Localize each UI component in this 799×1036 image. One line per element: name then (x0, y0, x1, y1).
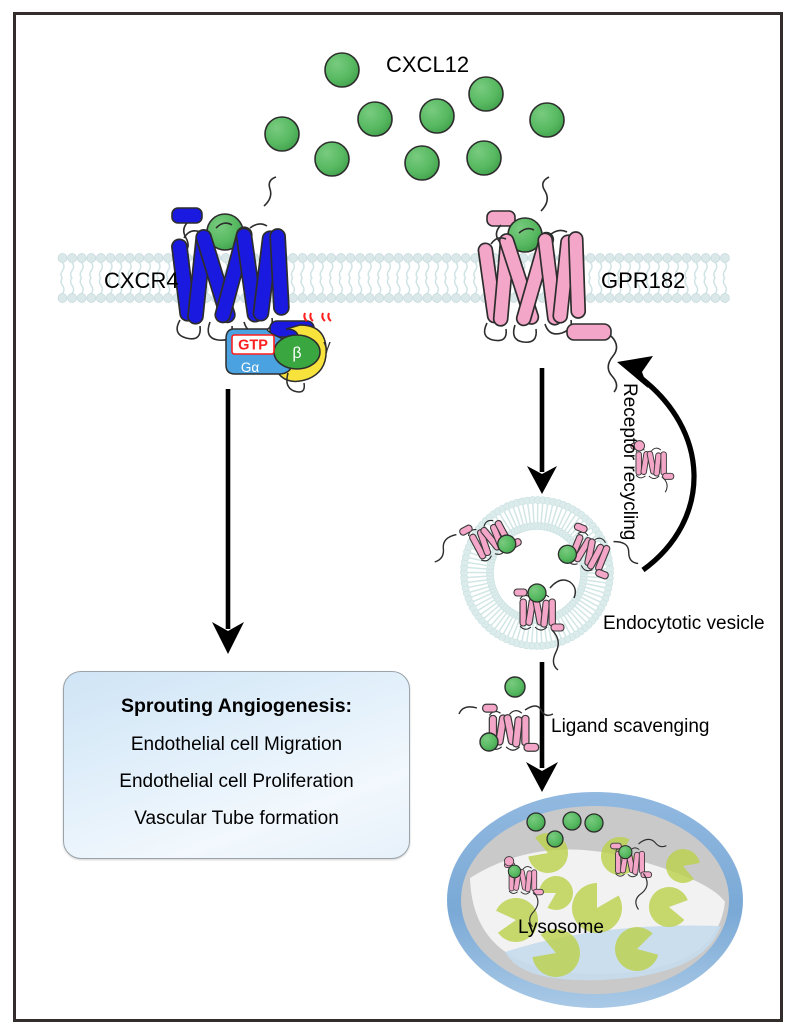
label-endocytotic-vesicle: Endocytotic vesicle (603, 613, 765, 635)
cxcl12-particle (530, 103, 564, 137)
label-cxcl12: CXCL12 (386, 52, 469, 78)
gpr182-receptor (478, 177, 617, 392)
label-receptor-recycling: Receptor recycling (618, 383, 640, 540)
lysosome (447, 792, 743, 1008)
free-ligand-particle (505, 677, 525, 697)
angiogenesis-line-1: Endothelial cell Migration (131, 734, 342, 756)
arrow-gpr182-to-vesicle (527, 368, 557, 494)
gtp-badge: GTP (232, 335, 274, 354)
label-gpr182: GPR182 (601, 268, 685, 294)
gtp-label: GTP (238, 338, 268, 354)
label-cxcr4: CXCR4 (104, 268, 179, 294)
diagram-artwork: GTP Gα β γ (0, 0, 799, 1036)
degraded-ligand-particle (563, 812, 581, 830)
degraded-ligand-particle (527, 813, 545, 831)
figure-root: GTP Gα β γ (0, 0, 799, 1036)
cxcl12-particle (315, 142, 349, 176)
g-alpha-label: Gα (241, 360, 260, 375)
cxcl12-particle (358, 102, 392, 136)
cxcl12-particle (420, 99, 454, 133)
degraded-ligand-particle (547, 831, 563, 847)
label-lysosome: Lysosome (518, 917, 604, 939)
endocytotic-vesicle (427, 496, 644, 670)
angiogenesis-title: Sprouting Angiogenesis: (121, 695, 352, 718)
g-beta-label: β (292, 345, 301, 362)
sprouting-angiogenesis-box: Sprouting Angiogenesis: Endothelial cell… (63, 671, 410, 859)
arrow-cxcr4-to-angiogenesis (212, 389, 244, 654)
cxcl12-particle (469, 77, 503, 111)
degraded-ligand-particle (585, 814, 603, 832)
cxcl12-particle (265, 117, 299, 151)
cxcl12-particle (325, 53, 359, 87)
cxcl12-particle (467, 141, 501, 175)
angiogenesis-line-2: Endothelial cell Proliferation (119, 771, 353, 793)
label-ligand-scavenging: Ligand scavenging (551, 716, 709, 738)
vesicle-receptor-1 (427, 507, 524, 586)
vesicle-receptor-3 (514, 580, 575, 670)
scavenging-receptor (459, 677, 553, 751)
cxcl12-particle (405, 146, 439, 180)
angiogenesis-line-3: Vascular Tube formation (134, 808, 339, 830)
g-gamma-label: γ (323, 337, 331, 354)
